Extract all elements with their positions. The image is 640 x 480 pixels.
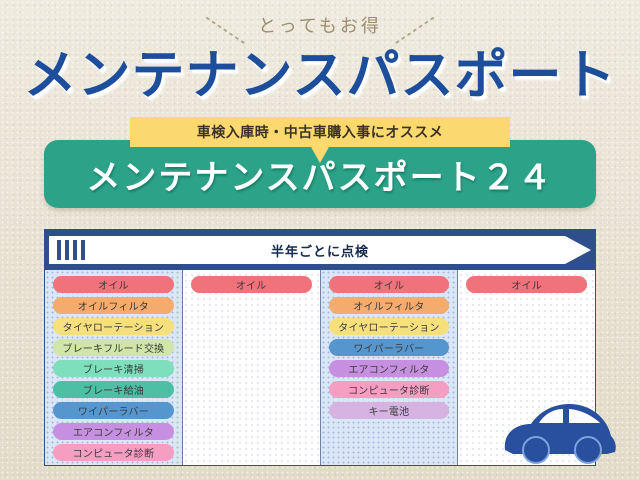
service-pill: オイルフィルタ bbox=[53, 297, 174, 314]
ribbon-tail-icon bbox=[311, 147, 329, 163]
service-pill: コンピュータ診断 bbox=[329, 381, 450, 398]
service-pill: タイヤローテーション bbox=[329, 318, 450, 335]
page-title: メンテナンスパスポート bbox=[0, 47, 640, 105]
poster-root: とってもお得 メンテナンスパスポート 車検入庫時・中古車購入事にオススメ メンテ… bbox=[0, 0, 640, 480]
dotted-tick-right-icon bbox=[384, 16, 436, 46]
service-pill-list: オイルオイルフィルタタイヤローテーションワイパーラバーエアコンフィルタコンピュー… bbox=[321, 272, 458, 461]
service-pill: オイル bbox=[53, 276, 174, 293]
kicker-row: とってもお得 bbox=[0, 12, 640, 38]
service-pill: ワイパーラバー bbox=[329, 339, 450, 356]
kicker-text: とってもお得 bbox=[258, 16, 382, 37]
recommend-ribbon: 車検入庫時・中古車購入事にオススメ bbox=[130, 117, 510, 147]
service-pill: ワイパーラバー bbox=[53, 402, 174, 419]
service-pill-list: オイル bbox=[183, 272, 320, 461]
table-header-label: 半年ごとに点検 bbox=[45, 236, 595, 264]
service-pill: キー電池 bbox=[329, 402, 450, 419]
service-pill: タイヤローテーション bbox=[53, 318, 174, 335]
service-pill: エアコンフィルタ bbox=[53, 423, 174, 440]
service-pill: ブレーキ給油 bbox=[53, 381, 174, 398]
service-pill-list: オイルオイルフィルタタイヤローテーションブレーキフルード交換ブレーキ清掃ブレーキ… bbox=[45, 272, 182, 461]
dotted-tick-left-icon bbox=[204, 16, 256, 46]
recommend-ribbon-text: 車検入庫時・中古車購入事にオススメ bbox=[130, 117, 510, 147]
service-pill: ブレーキ清掃 bbox=[53, 360, 174, 377]
service-pill: オイルフィルタ bbox=[329, 297, 450, 314]
service-pill: コンピュータ診断 bbox=[53, 444, 174, 461]
service-pill: オイル bbox=[329, 276, 450, 293]
service-pill: オイル bbox=[191, 276, 312, 293]
service-pill: ブレーキフルード交換 bbox=[53, 339, 174, 356]
service-pill: オイル bbox=[466, 276, 587, 293]
service-pill: エアコンフィルタ bbox=[329, 360, 450, 377]
kicker-inner: とってもお得 bbox=[212, 12, 428, 38]
car-side-icon bbox=[495, 392, 623, 470]
